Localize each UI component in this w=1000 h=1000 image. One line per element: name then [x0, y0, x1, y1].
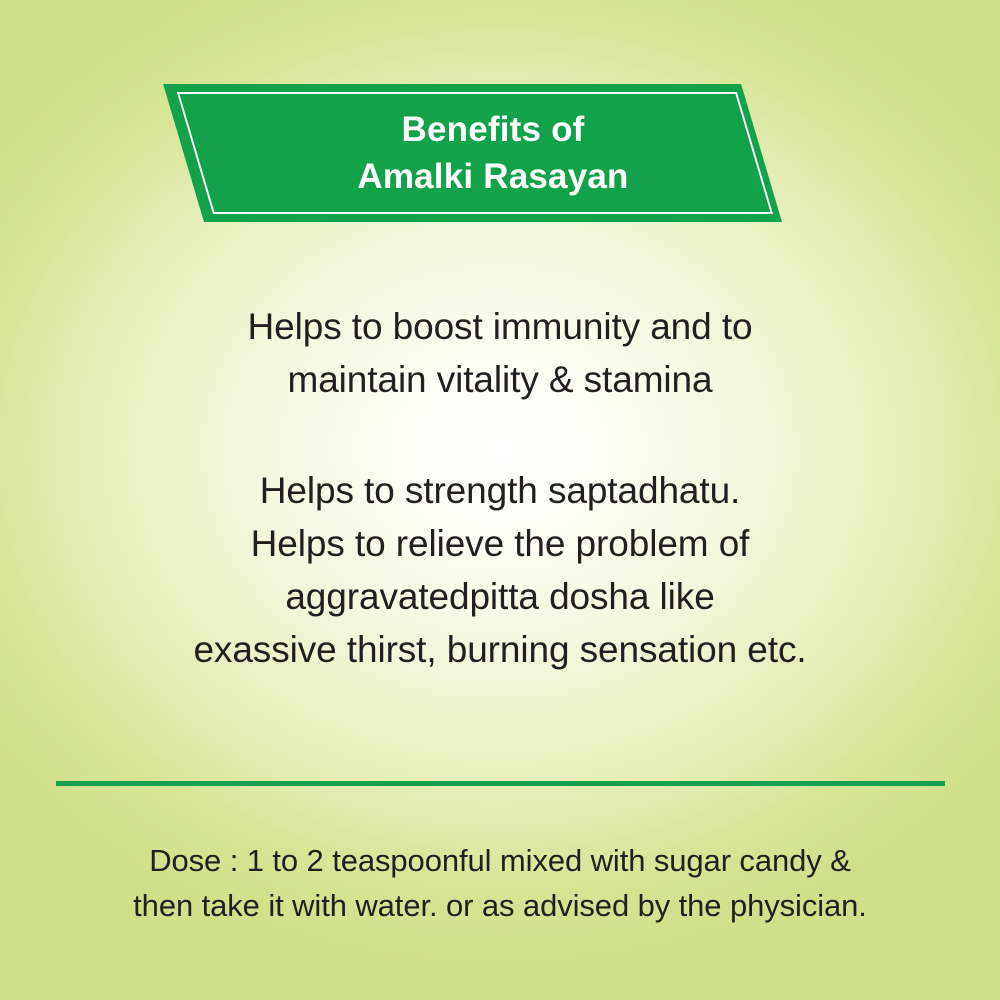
benefit-line: aggravatedpitta dosha like — [0, 570, 1000, 623]
benefit-line: Helps to boost immunity and to — [0, 300, 1000, 353]
benefit-paragraph-2: Helps to strength saptadhatu. Helps to r… — [0, 464, 1000, 676]
benefit-line: exassive thirst, burning sensation etc. — [0, 623, 1000, 676]
banner-title-line-2: Amalki Rasayan — [357, 156, 628, 197]
product-benefits-card: Benefits of Amalki Rasayan Helps to boos… — [0, 0, 1000, 1000]
benefit-line: Helps to relieve the problem of — [0, 517, 1000, 570]
header-banner: Benefits of Amalki Rasayan — [204, 84, 782, 222]
banner-title-line-1: Benefits of — [401, 109, 584, 150]
benefit-paragraph-1: Helps to boost immunity and to maintain … — [0, 300, 1000, 406]
benefit-line: maintain vitality & stamina — [0, 353, 1000, 406]
paragraph-spacer — [0, 406, 1000, 464]
section-divider — [56, 781, 945, 786]
dose-line: Dose : 1 to 2 teaspoonful mixed with sug… — [0, 838, 1000, 883]
dose-instructions: Dose : 1 to 2 teaspoonful mixed with sug… — [0, 838, 1000, 928]
benefits-body: Helps to boost immunity and to maintain … — [0, 300, 1000, 676]
benefit-line: Helps to strength saptadhatu. — [0, 464, 1000, 517]
banner-title: Benefits of Amalki Rasayan — [204, 84, 782, 222]
dose-line: then take it with water. or as advised b… — [0, 883, 1000, 928]
